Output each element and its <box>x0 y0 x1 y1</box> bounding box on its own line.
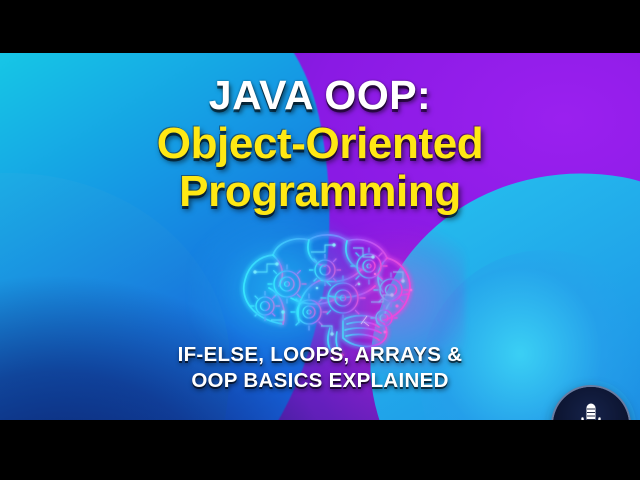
subtitle-line-2: OOP BASICS EXPLAINED <box>0 368 640 394</box>
title-line-tertiary: Programming <box>0 170 640 213</box>
brain-graphic <box>225 228 430 358</box>
subtitle-block: IF-ELSE, LOOPS, ARRAYS & OOP BASICS EXPL… <box>0 342 640 394</box>
title-block: JAVA OOP: Object-Oriented Programming <box>0 75 640 213</box>
letterbox-bar-bottom <box>0 420 640 480</box>
microphone-icon <box>576 401 606 421</box>
thumbnail-artwork: JAVA OOP: Object-Oriented Programming <box>0 53 640 420</box>
letterbox-bar-top <box>0 0 640 53</box>
title-line-secondary: Object-Oriented <box>0 122 640 165</box>
channel-logo-inner: TECHTALK101 <box>553 387 629 420</box>
channel-logo-badge[interactable]: TECHTALK101 <box>551 385 631 420</box>
video-thumbnail: JAVA OOP: Object-Oriented Programming <box>0 0 640 480</box>
title-line-primary: JAVA OOP: <box>0 75 640 115</box>
subtitle-line-1: IF-ELSE, LOOPS, ARRAYS & <box>0 342 640 368</box>
